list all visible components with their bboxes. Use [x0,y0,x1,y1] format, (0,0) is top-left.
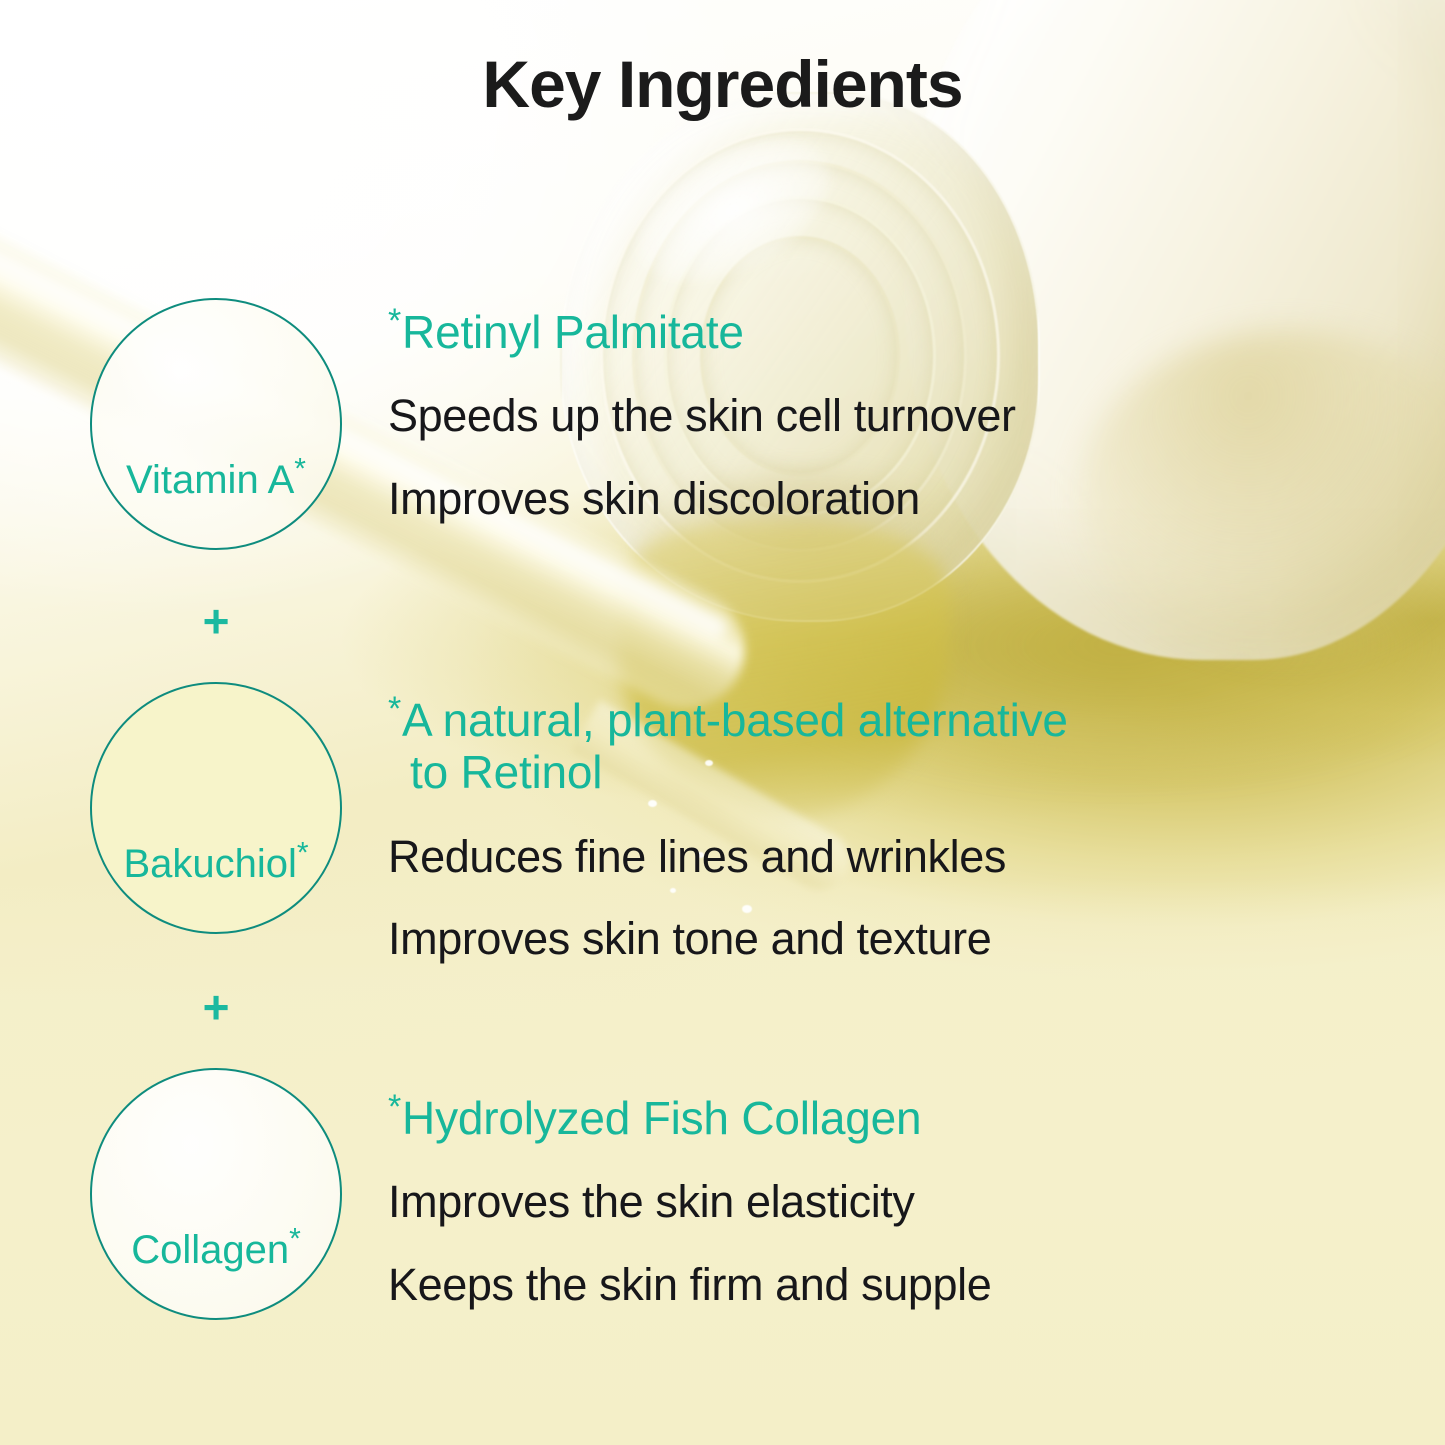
badge-label-collagen: Collagen* [131,1230,301,1270]
badge-bakuchiol[interactable]: Bakuchiol* [90,682,342,934]
badge-collagen[interactable]: Collagen* [90,1068,342,1320]
plus-separator-1: + [90,598,342,644]
ingredient-block-vitamin-a: *Retinyl Palmitate Speeds up the skin ce… [388,306,1016,524]
benefit-line: Improves skin tone and texture [388,915,1068,964]
asterisk-icon: * [289,1223,301,1256]
ingredient-heading-collagen: *Hydrolyzed Fish Collagen [388,1092,991,1144]
badge-text: Bakuchiol [123,842,296,886]
benefit-line: Improves skin discoloration [388,475,1016,524]
ingredient-heading-bakuchiol: *A natural, plant-based alternativeto Re… [388,694,1068,799]
badge-text: Collagen [131,1228,289,1272]
benefit-line: Speeds up the skin cell turnover [388,392,1016,441]
asterisk-icon: * [388,1088,401,1126]
badge-text: Vitamin A [126,458,294,502]
benefit-line: Keeps the skin firm and supple [388,1261,991,1310]
heading-text-line2: to Retinol [388,746,1068,798]
page-title: Key Ingredients [0,46,1445,122]
badge-label-bakuchiol: Bakuchiol* [123,844,308,884]
heading-text: Retinyl Palmitate [402,306,744,358]
heading-text: A natural, plant-based alternative [402,694,1068,746]
benefit-line: Improves the skin elasticity [388,1178,991,1227]
asterisk-icon: * [294,453,306,486]
ingredients-infographic: Key Ingredients Vitamin A* *Retinyl Palm… [0,0,1445,1445]
benefit-line: Reduces fine lines and wrinkles [388,833,1068,882]
badge-label-vitamin-a: Vitamin A* [126,460,306,500]
asterisk-icon: * [297,837,309,870]
asterisk-icon: * [388,690,401,728]
ingredient-block-bakuchiol: *A natural, plant-based alternativeto Re… [388,694,1068,964]
ingredient-heading-vitamin-a: *Retinyl Palmitate [388,306,1016,358]
asterisk-icon: * [388,302,401,340]
plus-separator-2: + [90,984,342,1030]
heading-text: Hydrolyzed Fish Collagen [402,1092,921,1144]
badge-vitamin-a[interactable]: Vitamin A* [90,298,342,550]
ingredient-block-collagen: *Hydrolyzed Fish Collagen Improves the s… [388,1092,991,1310]
